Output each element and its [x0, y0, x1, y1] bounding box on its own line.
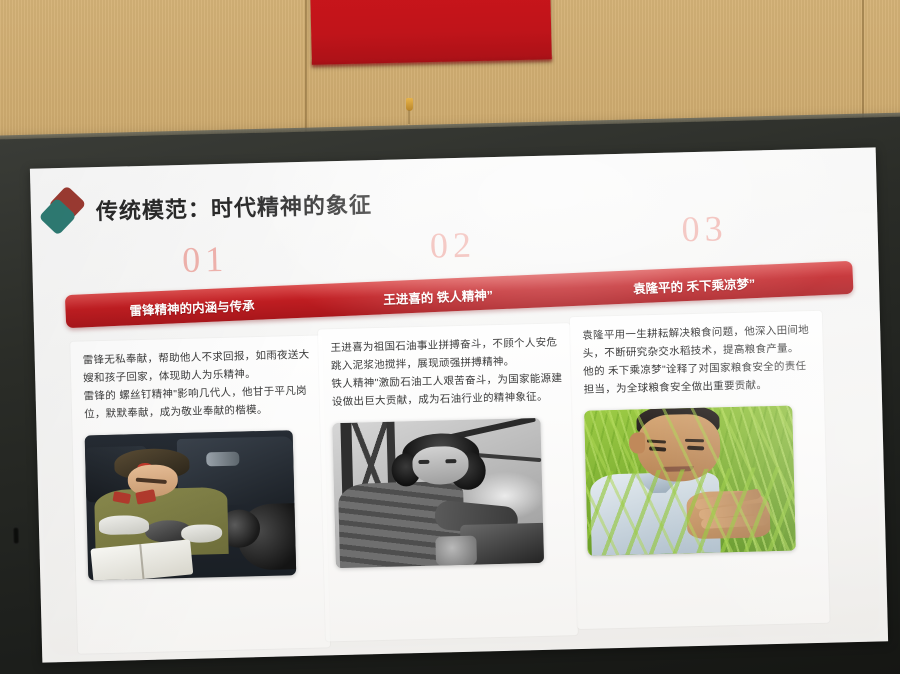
- column-text-1: 雷锋无私奉献，帮助他人不求回报，如雨夜送大嫂和孩子回家，体现助人为乐精神。 雷锋…: [83, 346, 317, 424]
- column-1-para-1: 雷锋无私奉献，帮助他人不求回报，如雨夜送大嫂和孩子回家，体现助人为乐精神。: [83, 346, 316, 388]
- wang-jinxi-photo: [332, 418, 544, 568]
- wall-hook-stem: [408, 110, 410, 124]
- photo1-glove-left: [99, 515, 149, 535]
- column-3-para-2: 他的 禾下乘凉梦"诠释了对国家粮食安全的责任担当，为全球粮食安全做出重要贡献。: [583, 357, 816, 399]
- photo2-drum: [435, 536, 477, 566]
- page-title: 传统模范：时代精神的象征: [96, 187, 373, 226]
- photo2-eye-right: [446, 459, 456, 463]
- yuan-longping-photo: [584, 406, 796, 556]
- column-text-3: 袁隆平用一生耕耘解决粮食问题，他深入田间地头，不断研究杂交水稻技术，提高粮食产量…: [582, 321, 816, 399]
- photo2-eye-left: [419, 460, 429, 464]
- display-sensor-icon: [13, 527, 19, 544]
- ribbon-label-03: 袁隆平的 禾下乘凉梦”: [633, 273, 756, 297]
- ribbon-label-02: 王进喜的 铁人精神”: [383, 284, 493, 308]
- photo1-chrome-part: [206, 452, 240, 466]
- meeting-room-scene: 传统模范：时代精神的象征 01 02 03 雷锋精神的内涵与传承 王进喜的 铁人…: [0, 0, 900, 674]
- column-2-para-2: 铁人精神"激励石油工人艰苦奋斗，为国家能源建设做出巨大贡献，成为石油行业的精神象…: [331, 369, 564, 411]
- column-lei-feng: 雷锋无私奉献，帮助他人不求回报，如雨夜送大嫂和孩子回家，体现助人为乐精神。 雷锋…: [83, 346, 321, 581]
- column-yuan-longping: 袁隆平用一生耕耘解决粮食问题，他深入田间地头，不断研究杂交水稻技术，提高粮食产量…: [582, 321, 820, 556]
- red-wall-banner: [310, 0, 552, 65]
- ribbon-label-01: 雷锋精神的内涵与传承: [129, 295, 255, 319]
- photo3-rice-blades-lower: [586, 467, 796, 556]
- presentation-slide: 传统模范：时代精神的象征 01 02 03 雷锋精神的内涵与传承 王进喜的 铁人…: [30, 147, 888, 662]
- column-1-para-2: 雷锋的 螺丝钉精神"影响几代人，他甘于平凡岗位，默默奉献，成为敬业奉献的楷模。: [83, 382, 316, 424]
- content-columns: 雷锋无私奉献，帮助他人不求回报，如雨夜送大嫂和孩子回家，体现助人为乐精神。 雷锋…: [34, 319, 888, 662]
- section-number-02: 02: [429, 224, 476, 267]
- section-number-01: 01: [182, 238, 229, 281]
- column-2-para-1: 王进喜为祖国石油事业拼搏奋斗，不顾个人安危跳入泥浆池搅拌，展现顽强拼搏精神。: [330, 333, 563, 375]
- column-wang-jinxi: 王进喜为祖国石油事业拼搏奋斗，不顾个人安危跳入泥浆池搅拌，展现顽强拼搏精神。 铁…: [330, 333, 568, 568]
- slide-header: 传统模范：时代精神的象征: [42, 182, 372, 232]
- lei-feng-photo: [85, 430, 297, 580]
- section-number-03: 03: [681, 207, 728, 250]
- column-text-2: 王进喜为祖国石油事业拼搏奋斗，不顾个人安危跳入泥浆池搅拌，展现顽强拼搏精神。 铁…: [330, 333, 564, 411]
- column-3-para-1: 袁隆平用一生耕耘解决粮食问题，他深入田间地头，不断研究杂交水稻技术，提高粮食产量…: [582, 321, 815, 363]
- diamond-logo-icon: [42, 189, 83, 232]
